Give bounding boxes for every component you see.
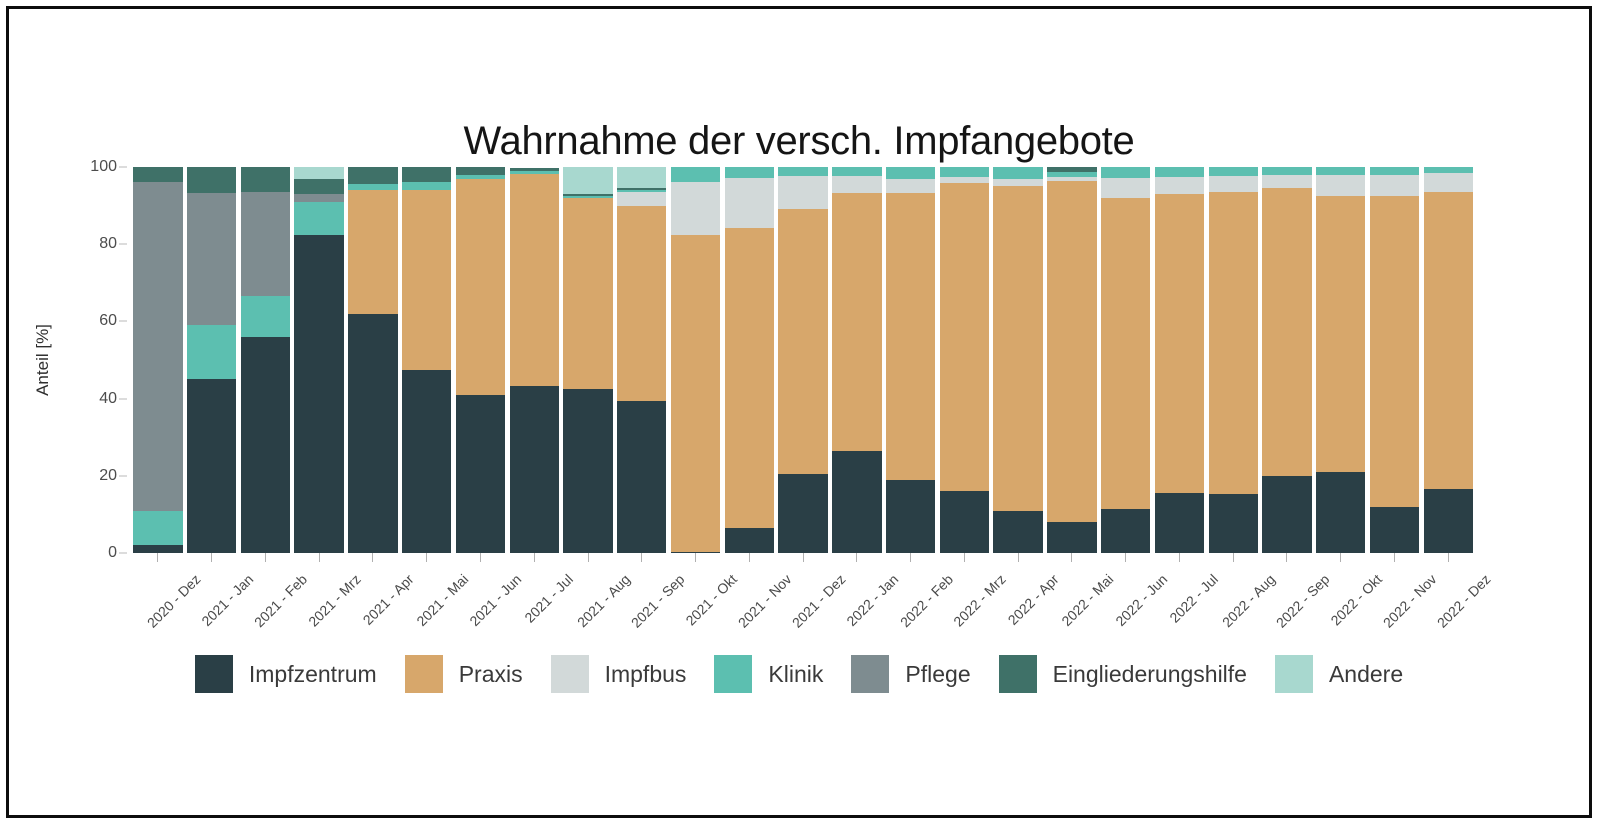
legend-item[interactable]: Pflege <box>851 655 970 693</box>
bar-column[interactable] <box>940 167 989 553</box>
x-axis-tick-mark <box>749 553 750 562</box>
x-axis-tick <box>1101 553 1150 563</box>
y-axis-tick-mark <box>119 398 127 399</box>
legend-item[interactable]: Andere <box>1275 655 1403 693</box>
bar-segment[interactable] <box>993 511 1042 553</box>
x-axis-tick <box>241 553 290 563</box>
y-axis-tick-mark <box>119 244 127 245</box>
x-axis-tick <box>1424 553 1473 563</box>
x-axis-label-cell: 2022 - Nov <box>1370 563 1419 653</box>
x-axis-label-cell: 2022 - Okt <box>1316 563 1365 653</box>
bar-segment[interactable] <box>617 401 666 553</box>
x-axis-label-cell: 2020 - Dez <box>133 563 182 653</box>
bar-segment[interactable] <box>1316 472 1365 553</box>
bar-segment[interactable] <box>241 337 290 553</box>
bar-segment[interactable] <box>1101 198 1150 509</box>
bar-segment[interactable] <box>940 491 989 553</box>
bar-segment[interactable] <box>187 379 236 553</box>
bar-segment[interactable] <box>294 167 343 179</box>
bar-segment[interactable] <box>671 235 720 552</box>
x-axis-label-cell: 2021 - Nov <box>725 563 774 653</box>
legend-label: Impfzentrum <box>249 661 377 688</box>
x-axis-label-cell: 2022 - Apr <box>993 563 1042 653</box>
bar-segment[interactable] <box>1370 507 1419 553</box>
x-axis-tick-mark <box>1340 553 1341 562</box>
bar-segment[interactable] <box>725 167 774 178</box>
x-axis-tick <box>617 553 666 563</box>
bar-segment[interactable] <box>1316 167 1365 175</box>
x-axis-tick-mark <box>319 553 320 562</box>
plot-area <box>131 167 1475 553</box>
bar-segment[interactable] <box>886 167 935 179</box>
x-axis-tick <box>402 553 451 563</box>
legend-item[interactable]: Eingliederungshilfe <box>999 655 1247 693</box>
x-axis-tick-mark <box>372 553 373 562</box>
legend-label: Pflege <box>905 661 970 688</box>
bar-segment[interactable] <box>133 182 182 510</box>
bar-column[interactable] <box>1155 167 1204 553</box>
bar-column[interactable] <box>832 167 881 553</box>
x-axis-tick <box>886 553 935 563</box>
bar-column[interactable] <box>725 167 774 553</box>
bar-segment[interactable] <box>832 176 881 193</box>
legend-label: Impfbus <box>605 661 687 688</box>
bar-segment[interactable] <box>1155 194 1204 493</box>
x-axis: 2020 - Dez2021 - Jan2021 - Feb2021 - Mrz… <box>131 553 1475 653</box>
x-axis-tick-mark <box>1125 553 1126 562</box>
bar-segment[interactable] <box>886 193 935 481</box>
x-axis-tick <box>778 553 827 563</box>
bar-segment[interactable] <box>1101 509 1150 553</box>
x-axis-label-cell: 2022 - Dez <box>1424 563 1473 653</box>
x-axis-label-cell: 2022 - Jul <box>1155 563 1204 653</box>
legend-swatch-icon <box>405 655 443 693</box>
x-axis-tick-mark <box>157 553 158 562</box>
bar-segment[interactable] <box>617 206 666 401</box>
bar-segment[interactable] <box>778 167 827 175</box>
bar-column[interactable] <box>187 167 236 553</box>
bar-segment[interactable] <box>133 545 182 553</box>
bars-container <box>131 167 1475 553</box>
bar-segment[interactable] <box>241 296 290 337</box>
bar-segment[interactable] <box>778 474 827 553</box>
bar-segment[interactable] <box>456 179 505 394</box>
bar-segment[interactable] <box>1047 522 1096 553</box>
x-axis-tick <box>1209 553 1258 563</box>
bar-segment[interactable] <box>510 386 559 553</box>
bar-column[interactable] <box>1424 167 1473 553</box>
bar-segment[interactable] <box>1370 167 1419 175</box>
y-axis-tick-mark <box>119 475 127 476</box>
bar-segment[interactable] <box>832 193 881 451</box>
chart-legend: ImpfzentrumPraxisImpfbusKlinikPflegeEing… <box>9 655 1589 693</box>
bar-segment[interactable] <box>617 167 666 188</box>
bar-column[interactable] <box>1101 167 1150 553</box>
bar-segment[interactable] <box>294 202 343 235</box>
x-axis-tick <box>1155 553 1204 563</box>
bar-column[interactable] <box>402 167 451 553</box>
bar-segment[interactable] <box>1209 176 1258 193</box>
bar-segment[interactable] <box>1424 489 1473 553</box>
x-axis-tick-mark <box>588 553 589 562</box>
x-axis-tick <box>832 553 881 563</box>
x-axis-label-cell: 2021 - Dez <box>778 563 827 653</box>
y-axis-tick-label: 0 <box>108 544 117 562</box>
x-axis-tick-mark <box>910 553 911 562</box>
legend-label: Klinik <box>768 661 823 688</box>
bar-segment[interactable] <box>402 167 451 182</box>
y-axis-tick-mark <box>119 167 127 168</box>
chart-title: Wahrnahme der versch. Impfangebote <box>9 119 1589 164</box>
x-axis-tick-mark <box>265 553 266 562</box>
bar-segment[interactable] <box>294 235 343 553</box>
legend-label: Praxis <box>459 661 523 688</box>
bar-column[interactable] <box>886 167 935 553</box>
x-axis-label-cell: 2021 - Jul <box>510 563 559 653</box>
screenshot-root: Wahrnahme der versch. Impfangebote Antei… <box>0 0 1600 824</box>
bar-column[interactable] <box>993 167 1042 553</box>
bar-segment[interactable] <box>1262 167 1311 175</box>
bar-segment[interactable] <box>348 314 397 553</box>
x-axis-label-cell: 2022 - Mrz <box>940 563 989 653</box>
bar-column[interactable] <box>563 167 612 553</box>
legend-swatch-icon <box>195 655 233 693</box>
bar-segment[interactable] <box>563 167 612 194</box>
x-axis-label-cell: 2021 - Okt <box>671 563 720 653</box>
bar-segment[interactable] <box>187 193 236 324</box>
x-axis-tick-mark <box>803 553 804 562</box>
bar-column[interactable] <box>617 167 666 553</box>
x-axis-label-cell: 2021 - Mrz <box>294 563 343 653</box>
bar-column[interactable] <box>778 167 827 553</box>
bar-segment[interactable] <box>1424 173 1473 192</box>
legend-swatch-icon <box>1275 655 1313 693</box>
bar-segment[interactable] <box>1101 167 1150 178</box>
x-axis-tick <box>510 553 559 563</box>
y-axis-tick-label: 40 <box>99 390 117 408</box>
x-axis-tick <box>348 553 397 563</box>
bar-segment[interactable] <box>1262 476 1311 553</box>
bar-segment[interactable] <box>832 167 881 175</box>
bar-segment[interactable] <box>940 183 989 491</box>
bar-segment[interactable] <box>671 182 720 234</box>
bar-segment[interactable] <box>348 167 397 184</box>
x-axis-label-cell: 2021 - Jan <box>187 563 236 653</box>
chart-frame: Wahrnahme der versch. Impfangebote Antei… <box>6 6 1592 818</box>
x-axis-tick-mark <box>1394 553 1395 562</box>
bar-segment[interactable] <box>1101 178 1150 198</box>
bar-segment[interactable] <box>1316 196 1365 472</box>
x-axis-tick <box>1047 553 1096 563</box>
bar-segment[interactable] <box>1155 493 1204 553</box>
legend-label: Eingliederungshilfe <box>1053 661 1247 688</box>
bar-segment[interactable] <box>456 395 505 553</box>
bar-segment[interactable] <box>1209 192 1258 494</box>
y-axis-tick-mark <box>119 553 127 554</box>
bar-segment[interactable] <box>1316 175 1365 196</box>
x-axis-tick <box>1262 553 1311 563</box>
x-axis-label-cell: 2021 - Sep <box>617 563 666 653</box>
bar-segment[interactable] <box>993 167 1042 179</box>
x-axis-tick <box>563 553 612 563</box>
y-axis-tick-label: 100 <box>90 158 117 176</box>
x-axis-label-cell: 2022 - Sep <box>1262 563 1311 653</box>
x-axis-tick <box>1370 553 1419 563</box>
bar-segment[interactable] <box>1262 175 1311 189</box>
x-axis-tick <box>940 553 989 563</box>
legend-swatch-icon <box>551 655 589 693</box>
x-axis-label-cell: 2021 - Mai <box>402 563 451 653</box>
bar-segment[interactable] <box>725 228 774 528</box>
x-axis-label-cell: 2022 - Feb <box>886 563 935 653</box>
bar-segment[interactable] <box>1155 167 1204 177</box>
x-axis-tick-mark <box>856 553 857 562</box>
bar-segment[interactable] <box>241 192 290 296</box>
bar-column[interactable] <box>1262 167 1311 553</box>
bar-segment[interactable] <box>133 167 182 182</box>
legend-item[interactable]: Praxis <box>405 655 523 693</box>
x-axis-tick-mark <box>211 553 212 562</box>
x-axis-tick <box>1316 553 1365 563</box>
bar-segment[interactable] <box>563 198 612 389</box>
legend-item[interactable]: Impfbus <box>551 655 687 693</box>
chart-canvas: Wahrnahme der versch. Impfangebote Antei… <box>9 9 1589 815</box>
bar-segment[interactable] <box>402 370 451 553</box>
x-axis-tick <box>456 553 505 563</box>
x-axis-tick-mark <box>534 553 535 562</box>
x-axis-label-cell: 2022 - Jun <box>1101 563 1150 653</box>
bar-segment[interactable] <box>563 389 612 553</box>
x-axis-tick-mark <box>1179 553 1180 562</box>
bar-segment[interactable] <box>886 179 935 193</box>
bar-segment[interactable] <box>241 167 290 192</box>
x-axis-label-cell: 2021 - Aug <box>563 563 612 653</box>
bar-segment[interactable] <box>778 176 827 210</box>
legend-swatch-icon <box>714 655 752 693</box>
x-axis-tick <box>725 553 774 563</box>
x-axis-label-cell: 2021 - Apr <box>348 563 397 653</box>
bar-segment[interactable] <box>187 325 236 379</box>
bar-segment[interactable] <box>402 182 451 190</box>
y-axis-tick-label: 80 <box>99 235 117 253</box>
bar-segment[interactable] <box>1047 181 1096 523</box>
bar-segment[interactable] <box>993 179 1042 186</box>
x-axis-tick <box>133 553 182 563</box>
bar-segment[interactable] <box>993 186 1042 510</box>
bar-segment[interactable] <box>725 178 774 227</box>
x-axis-tick-mark <box>1018 553 1019 562</box>
x-axis-tick-mark <box>695 553 696 562</box>
bar-column[interactable] <box>1370 167 1419 553</box>
x-axis-label-cell: 2022 - Jan <box>832 563 881 653</box>
bar-segment[interactable] <box>778 209 827 473</box>
bar-segment[interactable] <box>294 179 343 194</box>
bar-segment[interactable] <box>1424 192 1473 489</box>
x-axis-tick-mark <box>1233 553 1234 562</box>
bar-segment[interactable] <box>1370 196 1419 507</box>
y-axis-label: Anteil [%] <box>33 324 53 396</box>
x-axis-tick-mark <box>480 553 481 562</box>
bar-column[interactable] <box>510 167 559 553</box>
bar-segment[interactable] <box>886 480 935 553</box>
x-axis-tick <box>671 553 720 563</box>
x-axis-ticks <box>131 553 1475 563</box>
bar-segment[interactable] <box>133 511 182 546</box>
x-axis-tick-mark <box>641 553 642 562</box>
x-axis-tick-mark <box>426 553 427 562</box>
x-axis-tick-mark <box>964 553 965 562</box>
bar-segment[interactable] <box>940 167 989 177</box>
bar-column[interactable] <box>133 167 182 553</box>
bar-column[interactable] <box>671 167 720 553</box>
bar-column[interactable] <box>241 167 290 553</box>
bar-column[interactable] <box>294 167 343 553</box>
bar-column[interactable] <box>348 167 397 553</box>
bar-segment[interactable] <box>1209 494 1258 553</box>
bar-segment[interactable] <box>402 190 451 369</box>
x-axis-tick <box>993 553 1042 563</box>
bar-column[interactable] <box>456 167 505 553</box>
bar-segment[interactable] <box>1155 177 1204 194</box>
x-axis-tick-label: 2022 - Dez <box>1434 571 1494 631</box>
y-axis: Anteil [%] 020406080100 <box>9 167 131 553</box>
x-axis-tick-mark <box>1071 553 1072 562</box>
bar-segment[interactable] <box>832 451 881 553</box>
bar-segment[interactable] <box>617 192 666 206</box>
bar-segment[interactable] <box>671 167 720 182</box>
y-axis-tick-label: 20 <box>99 467 117 485</box>
bar-segment[interactable] <box>348 190 397 314</box>
bar-segment[interactable] <box>1370 175 1419 196</box>
x-axis-label-cell: 2022 - Aug <box>1209 563 1258 653</box>
bar-segment[interactable] <box>725 528 774 553</box>
bar-segment[interactable] <box>187 167 236 193</box>
legend-item[interactable]: Impfzentrum <box>195 655 377 693</box>
y-axis-tick-mark <box>119 321 127 322</box>
x-axis-tick-mark <box>1286 553 1287 562</box>
x-axis-label-cell: 2022 - Mai <box>1047 563 1096 653</box>
bar-column[interactable] <box>1047 167 1096 553</box>
x-axis-tick <box>187 553 236 563</box>
x-axis-labels: 2020 - Dez2021 - Jan2021 - Feb2021 - Mrz… <box>131 563 1475 653</box>
bar-segment[interactable] <box>1262 188 1311 476</box>
legend-item[interactable]: Klinik <box>714 655 823 693</box>
legend-swatch-icon <box>851 655 889 693</box>
bar-column[interactable] <box>1316 167 1365 553</box>
x-axis-tick <box>294 553 343 563</box>
x-axis-label-cell: 2021 - Feb <box>241 563 290 653</box>
bar-segment[interactable] <box>1209 167 1258 175</box>
x-axis-tick-mark <box>1448 553 1449 562</box>
bar-segment[interactable] <box>510 174 559 386</box>
x-axis-label-cell: 2021 - Jun <box>456 563 505 653</box>
bar-segment[interactable] <box>456 167 505 175</box>
y-axis-tick-label: 60 <box>99 312 117 330</box>
bar-segment[interactable] <box>294 194 343 202</box>
bar-column[interactable] <box>1209 167 1258 553</box>
legend-swatch-icon <box>999 655 1037 693</box>
legend-label: Andere <box>1329 661 1403 688</box>
